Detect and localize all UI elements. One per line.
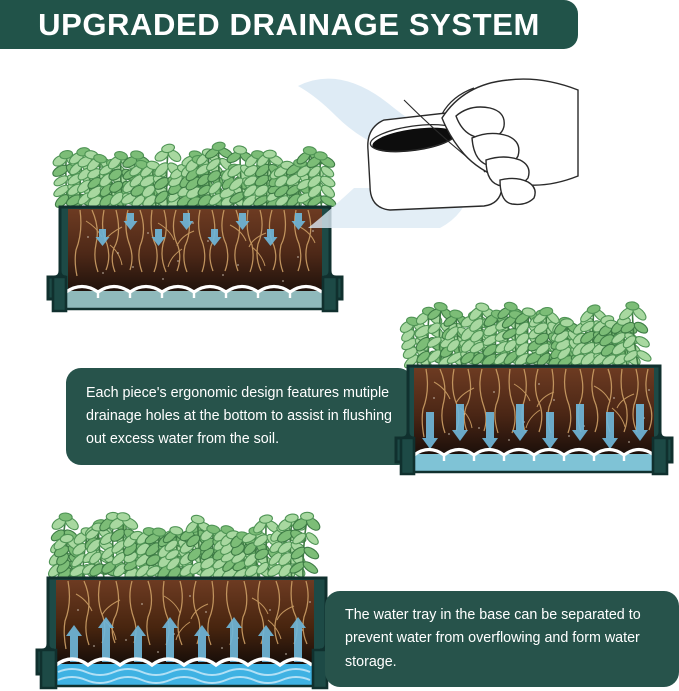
water-tray-base [66,287,324,310]
plant-foliage [46,512,322,583]
caption-box-drainage-holes: Each piece's ergonomic design features m… [66,368,413,465]
plant-foliage [398,301,652,370]
caption-text: Each piece's ergonomic design features m… [86,382,395,451]
caption-box-water-tray: The water tray in the base can be separa… [325,591,679,687]
caption-text: The water tray in the base can be separa… [345,604,661,673]
hand-holding-watering-can [246,62,526,232]
planter-cross-section-draining [400,300,672,478]
planter-cross-section-wicking [40,512,340,690]
header-banner: UPGRADED DRAINAGE SYSTEM [0,0,578,49]
soil-block [414,368,654,454]
page-title: UPGRADED DRAINAGE SYSTEM [24,7,540,43]
